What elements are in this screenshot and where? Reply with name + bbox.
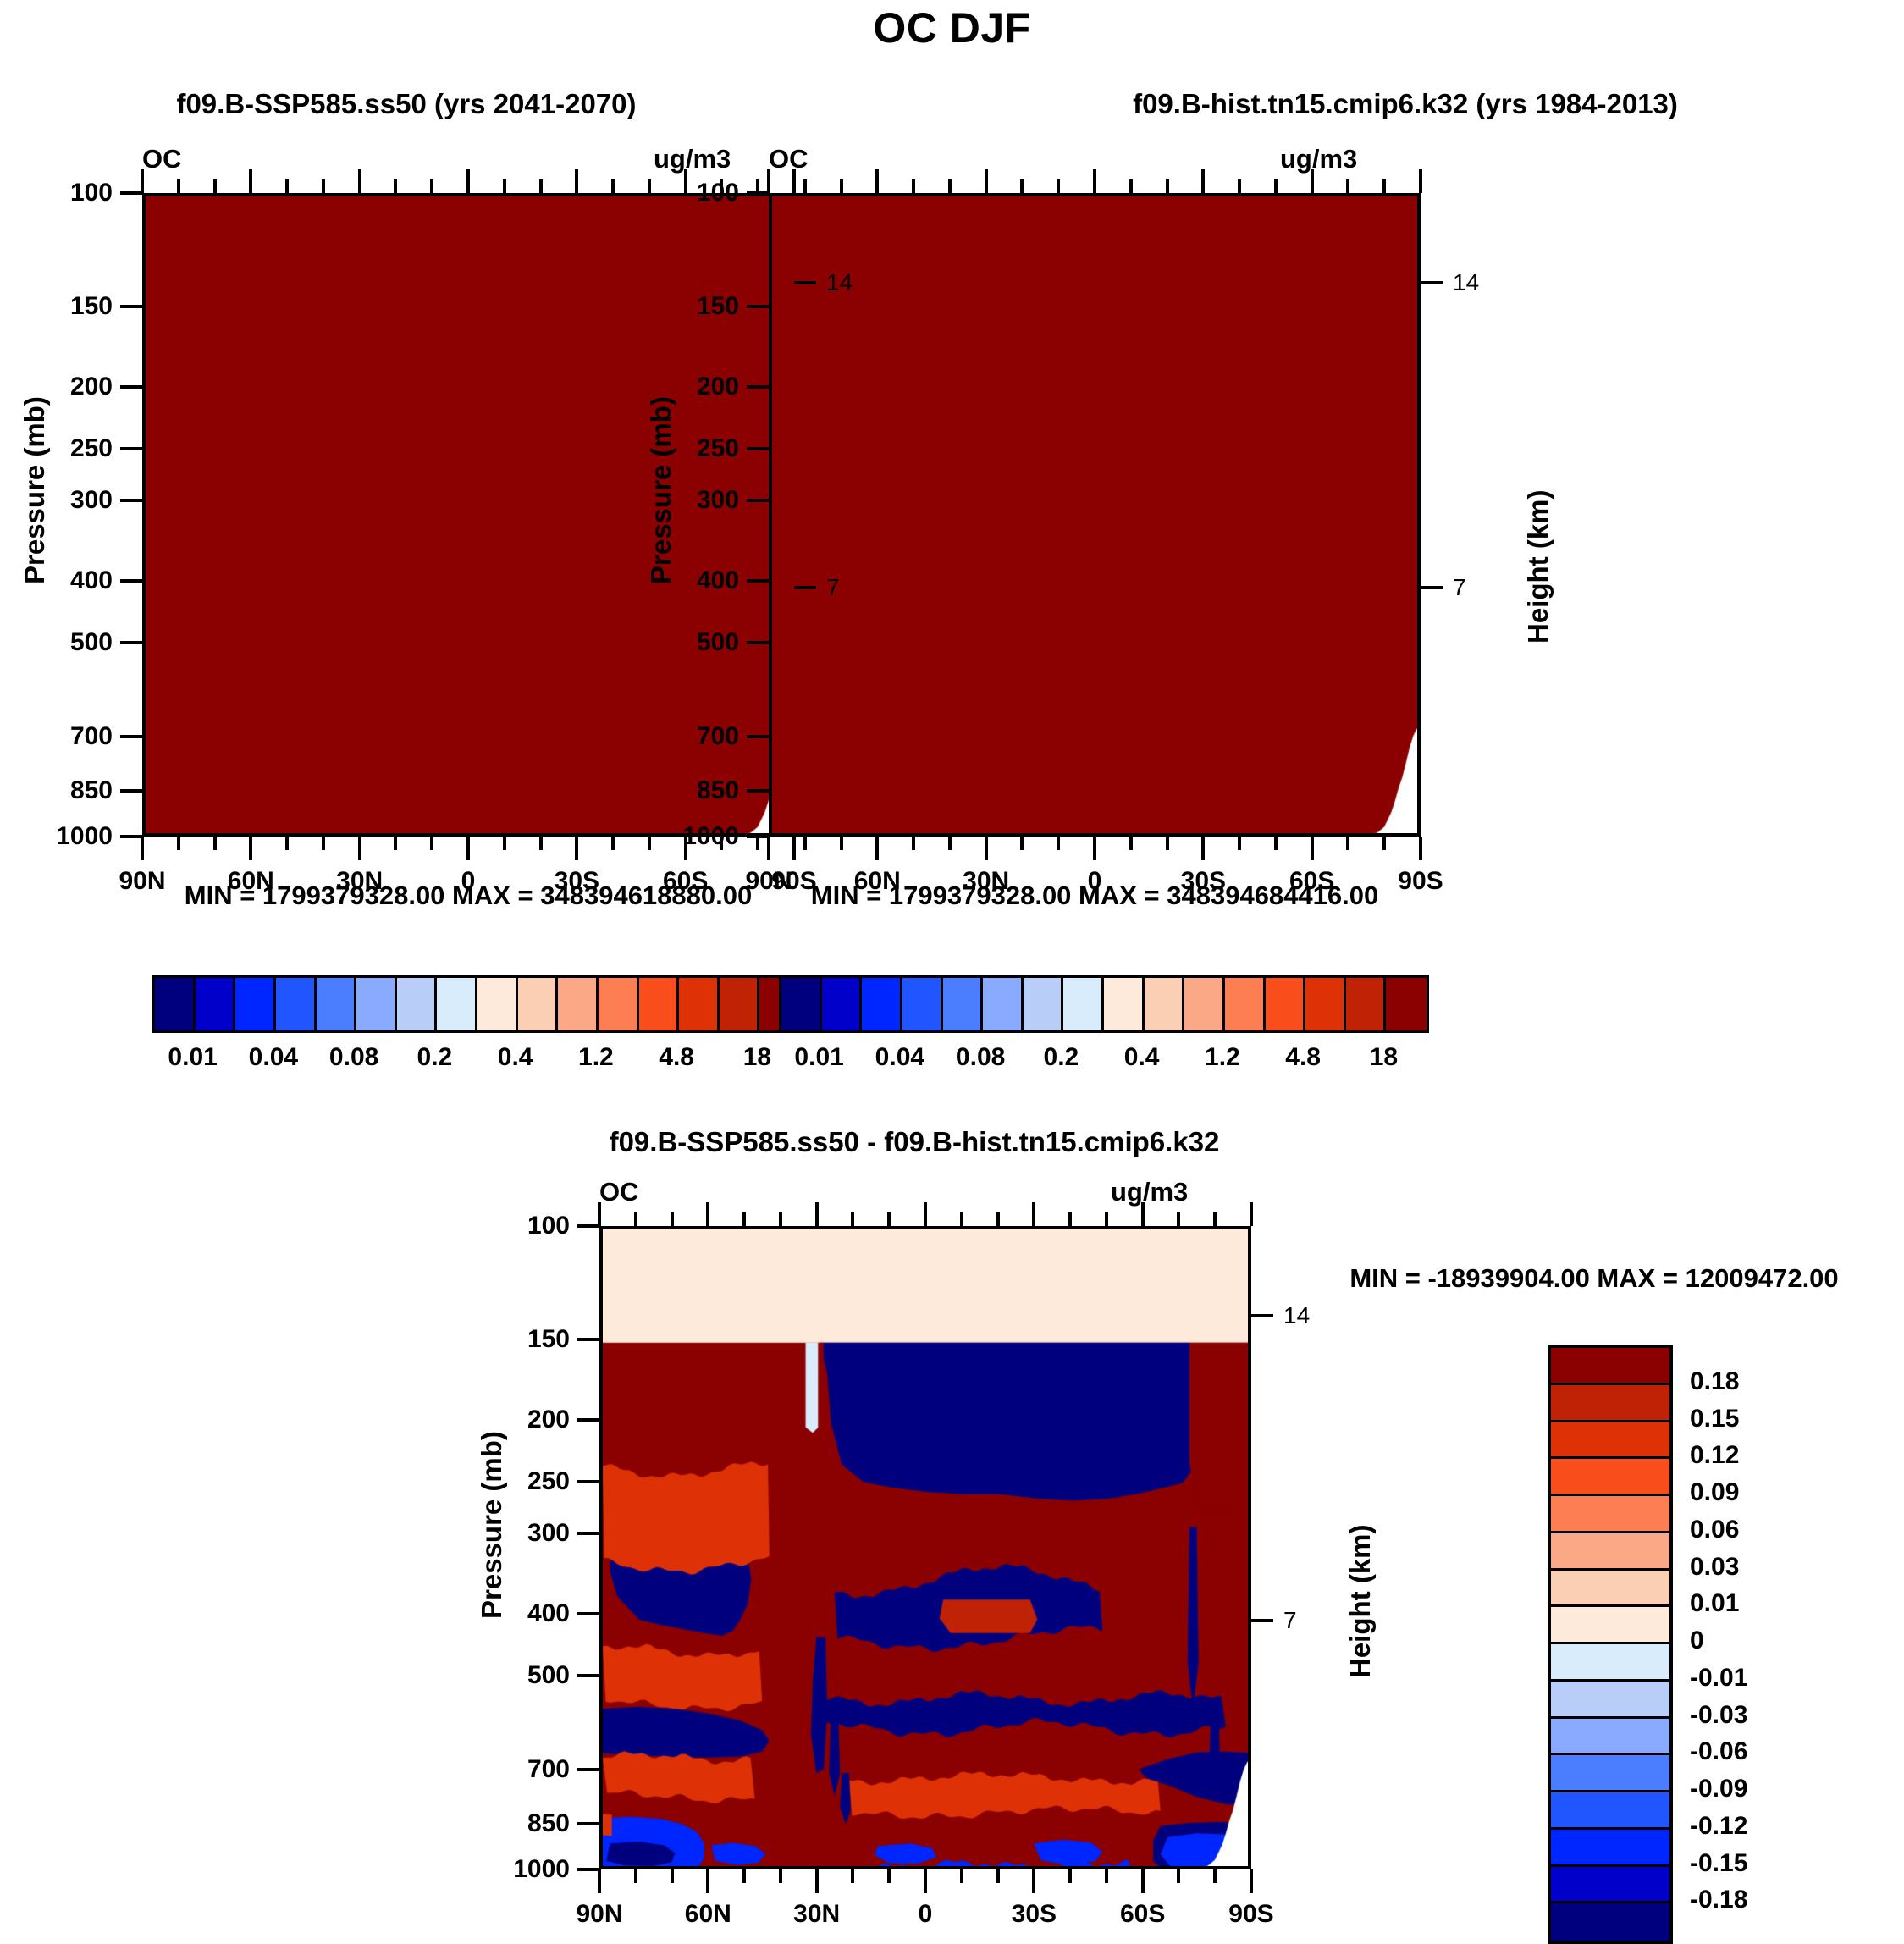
- panel-title-case2: f09.B-hist.tn15.cmip6.k32 (yrs 1984-2013…: [965, 88, 1846, 120]
- pressure-tick-label: 850: [0, 776, 113, 805]
- latitude-tick-label: 30N: [963, 867, 1009, 896]
- colorbar-tick-label: -0.03: [1690, 1701, 1747, 1730]
- axis-tick: [1068, 1869, 1072, 1883]
- panel-title-diff: f09.B-SSP585.ss50 - f09.B-hist.tn15.cmip…: [474, 1126, 1355, 1158]
- colorbar-swatch: [1551, 1903, 1669, 1941]
- colorbar-tick-label: 18: [743, 1043, 771, 1072]
- colorbar-swatch: [196, 978, 236, 1030]
- latitude-tick-label: 90N: [576, 1900, 622, 1929]
- axis-tick: [358, 837, 361, 860]
- colorbar-swatch: [558, 978, 599, 1030]
- latitude-tick-label: 30S: [1181, 867, 1226, 896]
- axis-tick: [996, 1869, 1000, 1883]
- height-tick-label: 14: [1453, 269, 1479, 296]
- axis-tick: [1093, 837, 1096, 860]
- colorbar-swatch: [639, 978, 680, 1030]
- colorbar-tick-label: 0.15: [1690, 1405, 1739, 1433]
- pressure-tick-label: 1000: [417, 1855, 570, 1884]
- pressure-tick-label: 100: [587, 179, 739, 207]
- pressure-tick-label: 250: [0, 434, 113, 463]
- contour-canvas-diff: [603, 1229, 1251, 1869]
- axis-tick: [285, 179, 289, 193]
- colorbar-tick-label: 0.01: [1690, 1589, 1739, 1618]
- axis-tick: [948, 179, 952, 193]
- axis-tick: [671, 1212, 674, 1226]
- colorbar-swatch: [437, 978, 477, 1030]
- axis-tick: [671, 1869, 674, 1883]
- pressure-tick-label: 700: [0, 722, 113, 751]
- colorbar-tick-label: 0.09: [1690, 1478, 1739, 1507]
- axis-tick: [322, 837, 325, 850]
- pressure-tick-label: 500: [587, 628, 739, 657]
- pressure-tick-label: 400: [0, 566, 113, 595]
- plot-area-diff: [599, 1226, 1251, 1869]
- axis-tick: [577, 1224, 599, 1228]
- pressure-tick-label: 400: [587, 566, 739, 595]
- axis-tick: [1311, 169, 1314, 193]
- colorbar-swatch: [862, 978, 902, 1030]
- axis-tick: [1250, 1202, 1253, 1226]
- colorbar-swatch: [1145, 978, 1185, 1030]
- axis-tick: [960, 1212, 963, 1226]
- colorbar-tick-label: 0.04: [875, 1043, 924, 1072]
- axis-tick: [924, 1869, 927, 1893]
- axis-tick: [875, 169, 879, 193]
- colorbar-tick-label: -0.15: [1690, 1849, 1747, 1878]
- axis-tick: [1201, 169, 1205, 193]
- axis-tick: [1105, 1212, 1108, 1226]
- pressure-tick-label: 700: [417, 1755, 570, 1784]
- axis-tick: [466, 837, 470, 860]
- panel-title-case1: f09.B-SSP585.ss50 (yrs 2041-2070): [17, 88, 796, 120]
- axis-tick: [767, 169, 770, 193]
- axis-tick: [577, 1338, 599, 1341]
- axis-tick: [985, 169, 988, 193]
- axis-tick: [1238, 837, 1241, 850]
- colorbar-tick-label: 0.04: [249, 1043, 298, 1072]
- latitude-tick-label: 30S: [555, 867, 599, 896]
- axis-tick: [803, 837, 807, 850]
- axis-tick: [1057, 179, 1060, 193]
- colorbar-swatch: [1386, 978, 1427, 1030]
- colorbar-case2: [779, 975, 1429, 1033]
- panel2-corner-left-label: OC: [769, 144, 809, 174]
- colorbar-swatch: [1551, 1571, 1669, 1608]
- axis-tick: [912, 179, 915, 193]
- colorbar-swatch: [1551, 1830, 1669, 1867]
- latitude-tick-label: 60N: [228, 867, 274, 896]
- axis-tick: [742, 1212, 746, 1226]
- colorbar-tick-label: -0.01: [1690, 1664, 1747, 1693]
- axis-tick: [948, 837, 952, 850]
- colorbar-tick-label: -0.12: [1690, 1812, 1747, 1841]
- pressure-tick-label: 500: [417, 1661, 570, 1690]
- panel2-corner-right-label: ug/m3: [1280, 144, 1357, 174]
- axis-tick: [887, 1212, 891, 1226]
- colorbar-tick-label: 0.01: [794, 1043, 843, 1072]
- axis-tick: [430, 837, 433, 850]
- axis-tick: [1274, 837, 1278, 850]
- panel3-minmax: MIN = -18939904.00 MAX = 12009472.00: [1302, 1263, 1886, 1294]
- axis-tick: [577, 1674, 599, 1677]
- axis-tick: [1238, 179, 1241, 193]
- colorbar-swatch: [822, 978, 863, 1030]
- colorbar-tick-label: 1.2: [1205, 1043, 1240, 1072]
- axis-tick: [1141, 1202, 1145, 1226]
- axis-tick: [1201, 837, 1205, 860]
- axis-tick: [575, 169, 578, 193]
- axis-tick: [1382, 179, 1386, 193]
- colorbar-tick-label: 0.12: [1690, 1441, 1739, 1470]
- latitude-tick-label: 30N: [793, 1900, 840, 1929]
- colorbar-swatch: [317, 978, 357, 1030]
- colorbar-swatch: [1551, 1792, 1669, 1830]
- latitude-tick-label: 0: [919, 1900, 933, 1929]
- axis-tick: [1068, 1212, 1072, 1226]
- axis-tick: [815, 1202, 819, 1226]
- axis-tick: [577, 1868, 599, 1871]
- axis-tick: [887, 1869, 891, 1883]
- axis-tick: [1251, 1314, 1273, 1317]
- axis-tick: [747, 305, 769, 308]
- axis-tick: [706, 1869, 709, 1893]
- height-tick-label: 7: [1283, 1607, 1297, 1634]
- axis-tick: [120, 789, 142, 793]
- axis-tick: [1166, 837, 1169, 850]
- latitude-tick-label: 60S: [1120, 1900, 1165, 1929]
- panel1-corner-left-label: OC: [142, 144, 182, 174]
- axis-tick: [875, 837, 879, 860]
- latitude-tick-label: 30S: [1012, 1900, 1057, 1929]
- axis-tick: [575, 837, 578, 860]
- axis-tick: [747, 385, 769, 389]
- colorbar-swatch: [1551, 1644, 1669, 1682]
- height-tick-label: 14: [1283, 1302, 1310, 1329]
- axis-tick: [742, 1869, 746, 1883]
- colorbar-tick-label: 0.01: [168, 1043, 217, 1072]
- pressure-tick-label: 400: [417, 1599, 570, 1628]
- pressure-tick-label: 250: [587, 434, 739, 463]
- colorbar-tick-label: 0: [1690, 1626, 1704, 1655]
- colorbar-tick-label: 0.03: [1690, 1553, 1739, 1582]
- axis-tick: [1382, 837, 1386, 850]
- axis-tick: [1346, 837, 1349, 850]
- colorbar-tick-label: 0.18: [1690, 1367, 1739, 1396]
- axis-tick: [1141, 1869, 1145, 1893]
- colorbar-diff-labels: 0.180.150.120.090.060.030.010-0.01-0.03-…: [1690, 1345, 1859, 1937]
- axis-tick: [358, 169, 361, 193]
- colorbar-swatch: [1104, 978, 1145, 1030]
- axis-tick: [996, 1212, 1000, 1226]
- axis-tick: [960, 1869, 963, 1883]
- colorbar-swatch: [397, 978, 438, 1030]
- axis-tick: [1213, 1869, 1217, 1883]
- axis-tick: [577, 1418, 599, 1422]
- colorbar-swatch: [781, 978, 822, 1030]
- colorbar-swatch: [1551, 1682, 1669, 1719]
- colorbar-swatch: [356, 978, 397, 1030]
- colorbar-swatch: [599, 978, 639, 1030]
- pressure-tick-label: 300: [587, 486, 739, 515]
- height-tick-label: 14: [826, 269, 853, 296]
- axis-tick: [794, 281, 816, 284]
- axis-tick: [634, 1869, 637, 1883]
- axis-tick: [503, 179, 506, 193]
- axis-tick: [539, 837, 543, 850]
- colorbar-swatch: [155, 978, 196, 1030]
- panel1-corner-right-label: ug/m3: [654, 144, 731, 174]
- axis-tick: [120, 579, 142, 583]
- axis-tick: [577, 1768, 599, 1771]
- axis-tick: [779, 1212, 782, 1226]
- panel2-y2axis-title: Height (km): [1522, 490, 1554, 644]
- axis-tick: [767, 837, 770, 860]
- axis-tick: [120, 735, 142, 738]
- axis-tick: [503, 837, 506, 850]
- colorbar-swatch: [1551, 1755, 1669, 1792]
- height-tick-label: 7: [1453, 574, 1466, 601]
- colorbar-tick-label: -0.06: [1690, 1737, 1747, 1766]
- pressure-tick-label: 150: [417, 1325, 570, 1354]
- axis-tick: [756, 837, 759, 850]
- colorbar-case1-labels: 0.010.040.080.20.41.24.818: [152, 1043, 797, 1077]
- latitude-tick-label: 60N: [685, 1900, 731, 1929]
- colorbar-swatch: [1266, 978, 1306, 1030]
- latitude-tick-label: 60N: [854, 867, 901, 896]
- pressure-tick-label: 500: [0, 628, 113, 657]
- axis-tick: [985, 837, 988, 860]
- latitude-tick-label: 90S: [1228, 1900, 1273, 1929]
- axis-tick: [598, 1202, 601, 1226]
- axis-tick: [1020, 179, 1024, 193]
- colorbar-swatch: [477, 978, 518, 1030]
- colorbar-swatch: [518, 978, 559, 1030]
- colorbar-swatch: [1305, 978, 1346, 1030]
- axis-tick: [213, 837, 217, 850]
- axis-tick: [1311, 837, 1314, 860]
- latitude-tick-label: 30N: [336, 867, 383, 896]
- latitude-tick-label: 60S: [1289, 867, 1334, 896]
- pressure-tick-label: 200: [0, 373, 113, 401]
- axis-tick: [1213, 1212, 1217, 1226]
- colorbar-tick-label: -0.09: [1690, 1775, 1747, 1803]
- colorbar-case1: [152, 975, 803, 1033]
- pressure-tick-label: 850: [587, 776, 739, 805]
- figure-title: OC DJF: [0, 3, 1904, 52]
- colorbar-tick-label: 0.08: [329, 1043, 378, 1072]
- axis-tick: [924, 1202, 927, 1226]
- axis-tick: [747, 579, 769, 583]
- pressure-tick-label: 200: [417, 1406, 570, 1434]
- axis-tick: [803, 179, 807, 193]
- height-tick-label: 7: [826, 574, 840, 601]
- pressure-tick-label: 100: [417, 1212, 570, 1240]
- panel3-corner-right-label: ug/m3: [1111, 1177, 1188, 1207]
- axis-tick: [747, 735, 769, 738]
- latitude-tick-label: 0: [461, 867, 476, 896]
- colorbar-tick-label: 0.2: [1044, 1043, 1079, 1072]
- axis-tick: [120, 835, 142, 838]
- colorbar-swatch: [235, 978, 276, 1030]
- colorbar-swatch: [1551, 1867, 1669, 1904]
- pressure-tick-label: 300: [417, 1519, 570, 1548]
- axis-tick: [1419, 837, 1422, 860]
- colorbar-swatch: [1024, 978, 1064, 1030]
- colorbar-swatch: [276, 978, 317, 1030]
- colorbar-tick-label: 0.08: [956, 1043, 1005, 1072]
- axis-tick: [285, 837, 289, 850]
- axis-tick: [747, 641, 769, 644]
- colorbar-swatch: [1225, 978, 1266, 1030]
- axis-tick: [747, 789, 769, 793]
- axis-tick: [249, 837, 252, 860]
- axis-tick: [394, 837, 397, 850]
- colorbar-swatch: [1551, 1348, 1669, 1385]
- axis-tick: [851, 1212, 854, 1226]
- axis-tick: [1129, 837, 1133, 850]
- colorbar-tick-label: 0.2: [417, 1043, 453, 1072]
- colorbar-swatch: [720, 978, 760, 1030]
- latitude-tick-label: 0: [1088, 867, 1102, 896]
- axis-tick: [322, 179, 325, 193]
- axis-tick: [794, 586, 816, 589]
- axis-tick: [120, 641, 142, 644]
- axis-tick: [466, 169, 470, 193]
- colorbar-swatch: [1063, 978, 1104, 1030]
- axis-tick: [120, 499, 142, 502]
- pressure-tick-label: 300: [0, 486, 113, 515]
- axis-tick: [577, 1612, 599, 1615]
- colorbar-swatch: [902, 978, 943, 1030]
- colorbar-swatch: [1551, 1385, 1669, 1422]
- contour-canvas-case2: [772, 196, 1421, 837]
- axis-tick: [177, 179, 180, 193]
- latitude-tick-label: 90S: [1398, 867, 1443, 896]
- axis-tick: [747, 499, 769, 502]
- panel3-corner-left-label: OC: [599, 1177, 639, 1207]
- colorbar-diff: [1548, 1345, 1673, 1944]
- pressure-tick-label: 700: [587, 722, 739, 751]
- colorbar-swatch: [679, 978, 720, 1030]
- colorbar-swatch: [943, 978, 984, 1030]
- axis-tick: [1166, 179, 1169, 193]
- axis-tick: [1346, 179, 1349, 193]
- axis-tick: [539, 179, 543, 193]
- axis-tick: [1129, 179, 1133, 193]
- axis-tick: [779, 1869, 782, 1883]
- colorbar-swatch: [1346, 978, 1387, 1030]
- pressure-tick-label: 250: [417, 1467, 570, 1496]
- colorbar-swatch: [1551, 1459, 1669, 1496]
- axis-tick: [394, 179, 397, 193]
- axis-tick: [747, 835, 769, 838]
- colorbar-swatch: [1551, 1422, 1669, 1460]
- colorbar-case2-labels: 0.010.040.080.20.41.24.818: [779, 1043, 1424, 1077]
- axis-tick: [577, 1480, 599, 1483]
- pressure-tick-label: 1000: [587, 822, 739, 851]
- axis-tick: [120, 191, 142, 195]
- colorbar-tick-label: 0.4: [498, 1043, 533, 1072]
- axis-tick: [1105, 1869, 1108, 1883]
- panel3-y2axis-title: Height (km): [1344, 1525, 1377, 1679]
- pressure-tick-label: 150: [587, 292, 739, 321]
- axis-tick: [1419, 169, 1422, 193]
- axis-tick: [120, 447, 142, 450]
- axis-tick: [577, 1822, 599, 1825]
- plot-area-case2: [769, 193, 1421, 837]
- axis-tick: [747, 191, 769, 195]
- pressure-tick-label: 200: [587, 373, 739, 401]
- axis-tick: [815, 1869, 819, 1893]
- axis-tick: [1032, 1869, 1035, 1893]
- pressure-tick-label: 1000: [0, 822, 113, 851]
- colorbar-tick-label: -0.18: [1690, 1886, 1747, 1914]
- axis-tick: [1057, 837, 1060, 850]
- latitude-tick-label: 60S: [663, 867, 708, 896]
- axis-tick: [1093, 169, 1096, 193]
- axis-tick: [141, 169, 144, 193]
- axis-tick: [851, 1869, 854, 1883]
- axis-tick: [912, 837, 915, 850]
- axis-tick: [1251, 1619, 1273, 1622]
- colorbar-swatch: [983, 978, 1024, 1030]
- axis-tick: [840, 179, 843, 193]
- axis-tick: [249, 169, 252, 193]
- axis-tick: [1177, 1869, 1180, 1883]
- axis-tick: [141, 837, 144, 860]
- colorbar-tick-label: 0.06: [1690, 1516, 1739, 1544]
- axis-tick: [747, 447, 769, 450]
- axis-tick: [120, 385, 142, 389]
- pressure-tick-label: 850: [417, 1809, 570, 1838]
- colorbar-tick-label: 4.8: [1285, 1043, 1321, 1072]
- pressure-tick-label: 150: [0, 292, 113, 321]
- colorbar-swatch: [1551, 1719, 1669, 1756]
- axis-tick: [706, 1202, 709, 1226]
- colorbar-tick-label: 0.4: [1124, 1043, 1160, 1072]
- colorbar-swatch: [1551, 1607, 1669, 1644]
- axis-tick: [1421, 586, 1443, 589]
- axis-tick: [1020, 837, 1024, 850]
- colorbar-swatch: [1184, 978, 1225, 1030]
- axis-tick: [1421, 281, 1443, 284]
- axis-tick: [792, 837, 796, 860]
- latitude-tick-label: 90N: [745, 867, 792, 896]
- latitude-tick-label: 90N: [119, 867, 165, 896]
- axis-tick: [577, 1532, 599, 1535]
- colorbar-tick-label: 4.8: [659, 1043, 694, 1072]
- axis-tick: [1032, 1202, 1035, 1226]
- axis-tick: [598, 1869, 601, 1893]
- colorbar-swatch: [1551, 1533, 1669, 1571]
- colorbar-tick-label: 1.2: [578, 1043, 614, 1072]
- axis-tick: [792, 169, 796, 193]
- axis-tick: [1250, 1869, 1253, 1893]
- colorbar-tick-label: 18: [1370, 1043, 1398, 1072]
- axis-tick: [120, 305, 142, 308]
- axis-tick: [1177, 1212, 1180, 1226]
- axis-tick: [840, 837, 843, 850]
- axis-tick: [177, 837, 180, 850]
- axis-tick: [430, 179, 433, 193]
- axis-tick: [213, 179, 217, 193]
- pressure-tick-label: 100: [0, 179, 113, 207]
- axis-tick: [1274, 179, 1278, 193]
- axis-tick: [634, 1212, 637, 1226]
- colorbar-swatch: [1551, 1496, 1669, 1533]
